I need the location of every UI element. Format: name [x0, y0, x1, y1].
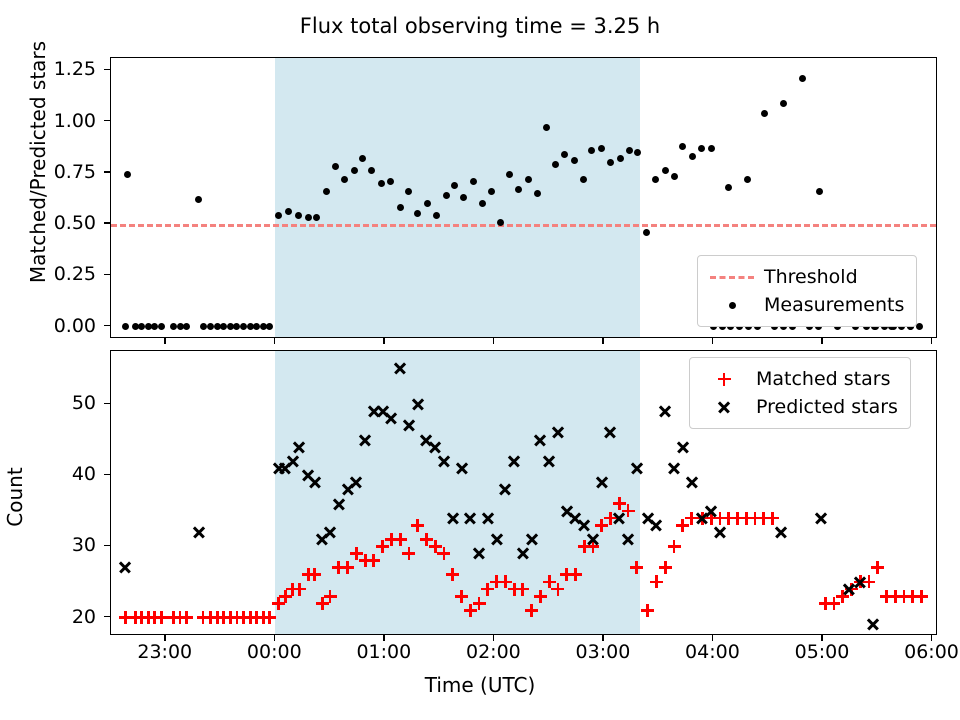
predicted-star-point [577, 518, 592, 533]
matched-star-point [472, 596, 487, 611]
legend-item-threshold: Threshold [708, 263, 904, 291]
x-axis-label: Time (UTC) [0, 673, 960, 697]
y-tick-mark [104, 274, 110, 276]
count-panel-legend: Matched stars Predicted stars [689, 357, 911, 429]
y-tick-label: 0.25 [0, 263, 96, 285]
matched-star-point [550, 582, 565, 597]
matched-star-point [292, 582, 307, 597]
y-tick-mark [104, 171, 110, 173]
predicted-star-point [428, 439, 443, 454]
predicted-star-point [853, 574, 868, 589]
x-tick-label: 02:00 [466, 641, 521, 663]
x-tick-mark-top-panel [712, 338, 714, 344]
predicted-star-point [774, 525, 789, 540]
predicted-star-point [704, 503, 719, 518]
x-tick-label: 03:00 [576, 641, 631, 663]
matched-star-point [262, 610, 277, 625]
matched-star-point [436, 546, 451, 561]
matched-star-point [533, 589, 548, 604]
legend-label-threshold: Threshold [756, 266, 858, 288]
matched-star-point [870, 560, 885, 575]
measurement-point [170, 323, 177, 330]
measurement-point [488, 188, 495, 195]
matched-star-point [629, 560, 644, 575]
predicted-star-point [410, 397, 425, 412]
x-tick-label: 01:00 [356, 641, 411, 663]
x-tick-label: 04:00 [685, 641, 740, 663]
predicted-star-point [866, 617, 881, 632]
legend-label-predicted-stars: Predicted stars [748, 396, 898, 418]
measurement-point [580, 176, 587, 183]
measurement-point [378, 180, 385, 187]
matched-star-point [658, 560, 673, 575]
y-tick-mark [104, 222, 110, 224]
x-tick-label: 05:00 [795, 641, 850, 663]
ratio-panel-legend: Threshold Measurements [697, 255, 917, 327]
measurement-point [634, 149, 641, 156]
x-tick-mark-top-panel [164, 338, 166, 344]
measurement-point [671, 173, 678, 180]
x-tick-label: 06:00 [904, 641, 959, 663]
matched-star-point [340, 560, 355, 575]
legend-label-matched-stars: Matched stars [748, 368, 890, 390]
predicted-star-point [118, 560, 133, 575]
matched-star-point [323, 589, 338, 604]
legend-item-measurements: Measurements [708, 291, 904, 319]
measurement-point [387, 178, 394, 185]
predicted-star-point [550, 425, 565, 440]
y-tick-mark [104, 545, 110, 547]
y-tick-mark [104, 474, 110, 476]
measurement-point [525, 176, 532, 183]
measurement-point [916, 323, 923, 330]
y-tick-label: 20 [0, 606, 96, 628]
measurement-point [761, 110, 768, 117]
predicted-star-point [393, 361, 408, 376]
predicted-star-point [813, 511, 828, 526]
predicted-star-point [667, 461, 682, 476]
measurement-point [183, 323, 190, 330]
predicted-star-point [489, 532, 504, 547]
predicted-star-point [307, 475, 322, 490]
predicted-star-point [524, 532, 539, 547]
measurement-point [679, 143, 686, 150]
measurement-point [617, 155, 624, 162]
matched-star-point [640, 603, 655, 618]
matched-star-point [914, 589, 929, 604]
predicted-star-point [675, 439, 690, 454]
matched-star-point [765, 511, 780, 526]
y-tick-label: 0.00 [0, 315, 96, 337]
measurement-point [626, 147, 633, 154]
x-tick-mark-top-panel [274, 338, 276, 344]
matched-star-point [307, 567, 322, 582]
measurement-point [780, 100, 787, 107]
page-title: Flux total observing time = 3.25 h [0, 14, 960, 38]
predicted-star-point [507, 454, 522, 469]
predicted-star-point [684, 475, 699, 490]
plus-marker-icon [700, 368, 748, 390]
predicted-star-point [472, 546, 487, 561]
measurement-point [515, 186, 522, 193]
measurement-point [598, 145, 605, 152]
measurement-point [122, 323, 129, 330]
predicted-star-point [480, 511, 495, 526]
count-panel-y-axis-label: Count [3, 407, 27, 587]
measurement-point [689, 153, 696, 160]
matched-star-point [410, 518, 425, 533]
predicted-star-point [594, 475, 609, 490]
matched-star-point [515, 582, 530, 597]
predicted-star-point [401, 418, 416, 433]
measurement-point [443, 192, 450, 199]
predicted-star-point [603, 425, 618, 440]
y-tick-mark [104, 120, 110, 122]
predicted-star-point [445, 511, 460, 526]
predicted-star-point [621, 532, 636, 547]
legend-item-matched-stars: Matched stars [700, 365, 898, 393]
x-tick-mark-top-panel [602, 338, 604, 344]
x-tick-mark-top-panel [931, 338, 933, 344]
y-tick-mark [104, 403, 110, 405]
measurement-point [341, 176, 348, 183]
predicted-star-point [463, 511, 478, 526]
threshold-line [111, 224, 936, 227]
measurement-point [195, 196, 202, 203]
threshold-dashed-line-icon [708, 266, 756, 288]
measurement-point [662, 167, 669, 174]
y-tick-mark [104, 325, 110, 327]
predicted-star-point [542, 454, 557, 469]
measurement-point [124, 171, 131, 178]
x-tick-mark-top-panel [821, 338, 823, 344]
y-tick-label: 30 [0, 534, 96, 556]
measurement-point [744, 176, 751, 183]
matched-star-point [649, 574, 664, 589]
predicted-star-point [454, 461, 469, 476]
x-tick-label: 00:00 [247, 641, 302, 663]
matched-star-point [667, 539, 682, 554]
matched-star-point [366, 553, 381, 568]
measurement-point [698, 145, 705, 152]
measurement-point [643, 229, 650, 236]
y-tick-label: 0.75 [0, 161, 96, 183]
measurement-point [470, 178, 477, 185]
measurement-point [725, 184, 732, 191]
matched-star-point [401, 546, 416, 561]
predicted-star-point [498, 482, 513, 497]
observing-window-shading [275, 58, 640, 337]
measurement-point [397, 204, 404, 211]
predicted-star-point [515, 546, 530, 561]
measurement-point [534, 190, 541, 197]
predicted-star-point [323, 525, 338, 540]
measurement-point [816, 188, 823, 195]
y-tick-label: 40 [0, 463, 96, 485]
matched-star-point [179, 610, 194, 625]
figure-canvas: Flux total observing time = 3.25 h Match… [0, 0, 960, 720]
legend-item-predicted-stars: Predicted stars [700, 393, 898, 421]
measurement-point [351, 167, 358, 174]
y-tick-label: 50 [0, 392, 96, 414]
measurement-point [799, 75, 806, 82]
matched-star-point [568, 567, 583, 582]
predicted-star-point [629, 461, 644, 476]
x-tick-mark-top-panel [493, 338, 495, 344]
predicted-star-point [612, 511, 627, 526]
measurement-point [571, 157, 578, 164]
predicted-star-point [358, 432, 373, 447]
legend-label-measurements: Measurements [756, 294, 904, 316]
x-tick-label: 23:00 [137, 641, 192, 663]
measurement-point [200, 323, 207, 330]
predicted-star-point [533, 432, 548, 447]
measurement-point [158, 323, 165, 330]
predicted-star-point [191, 525, 206, 540]
predicted-star-point [285, 454, 300, 469]
y-tick-mark [104, 69, 110, 71]
predicted-star-point [649, 518, 664, 533]
measurement-point [561, 151, 568, 158]
matched-star-point [524, 603, 539, 618]
measurement-point [479, 200, 486, 207]
x-tick-mark-top-panel [383, 338, 385, 344]
matched-star-point [445, 567, 460, 582]
measurement-point [266, 323, 273, 330]
predicted-star-point [331, 496, 346, 511]
predicted-star-point [658, 404, 673, 419]
measurement-point [652, 176, 659, 183]
measurement-dot-icon [708, 294, 756, 316]
y-tick-label: 0.50 [0, 212, 96, 234]
matched-star-point [393, 532, 408, 547]
predicted-star-point [585, 532, 600, 547]
predicted-star-point [292, 439, 307, 454]
y-tick-label: 1.00 [0, 110, 96, 132]
measurement-point [708, 145, 715, 152]
predicted-star-point [384, 411, 399, 426]
predicted-star-point [349, 475, 364, 490]
y-tick-label: 1.25 [0, 58, 96, 80]
predicted-star-point [713, 525, 728, 540]
predicted-star-point [436, 454, 451, 469]
y-tick-mark [104, 616, 110, 618]
measurement-point [240, 323, 247, 330]
cross-marker-icon [700, 396, 748, 418]
matched-star-point [454, 589, 469, 604]
